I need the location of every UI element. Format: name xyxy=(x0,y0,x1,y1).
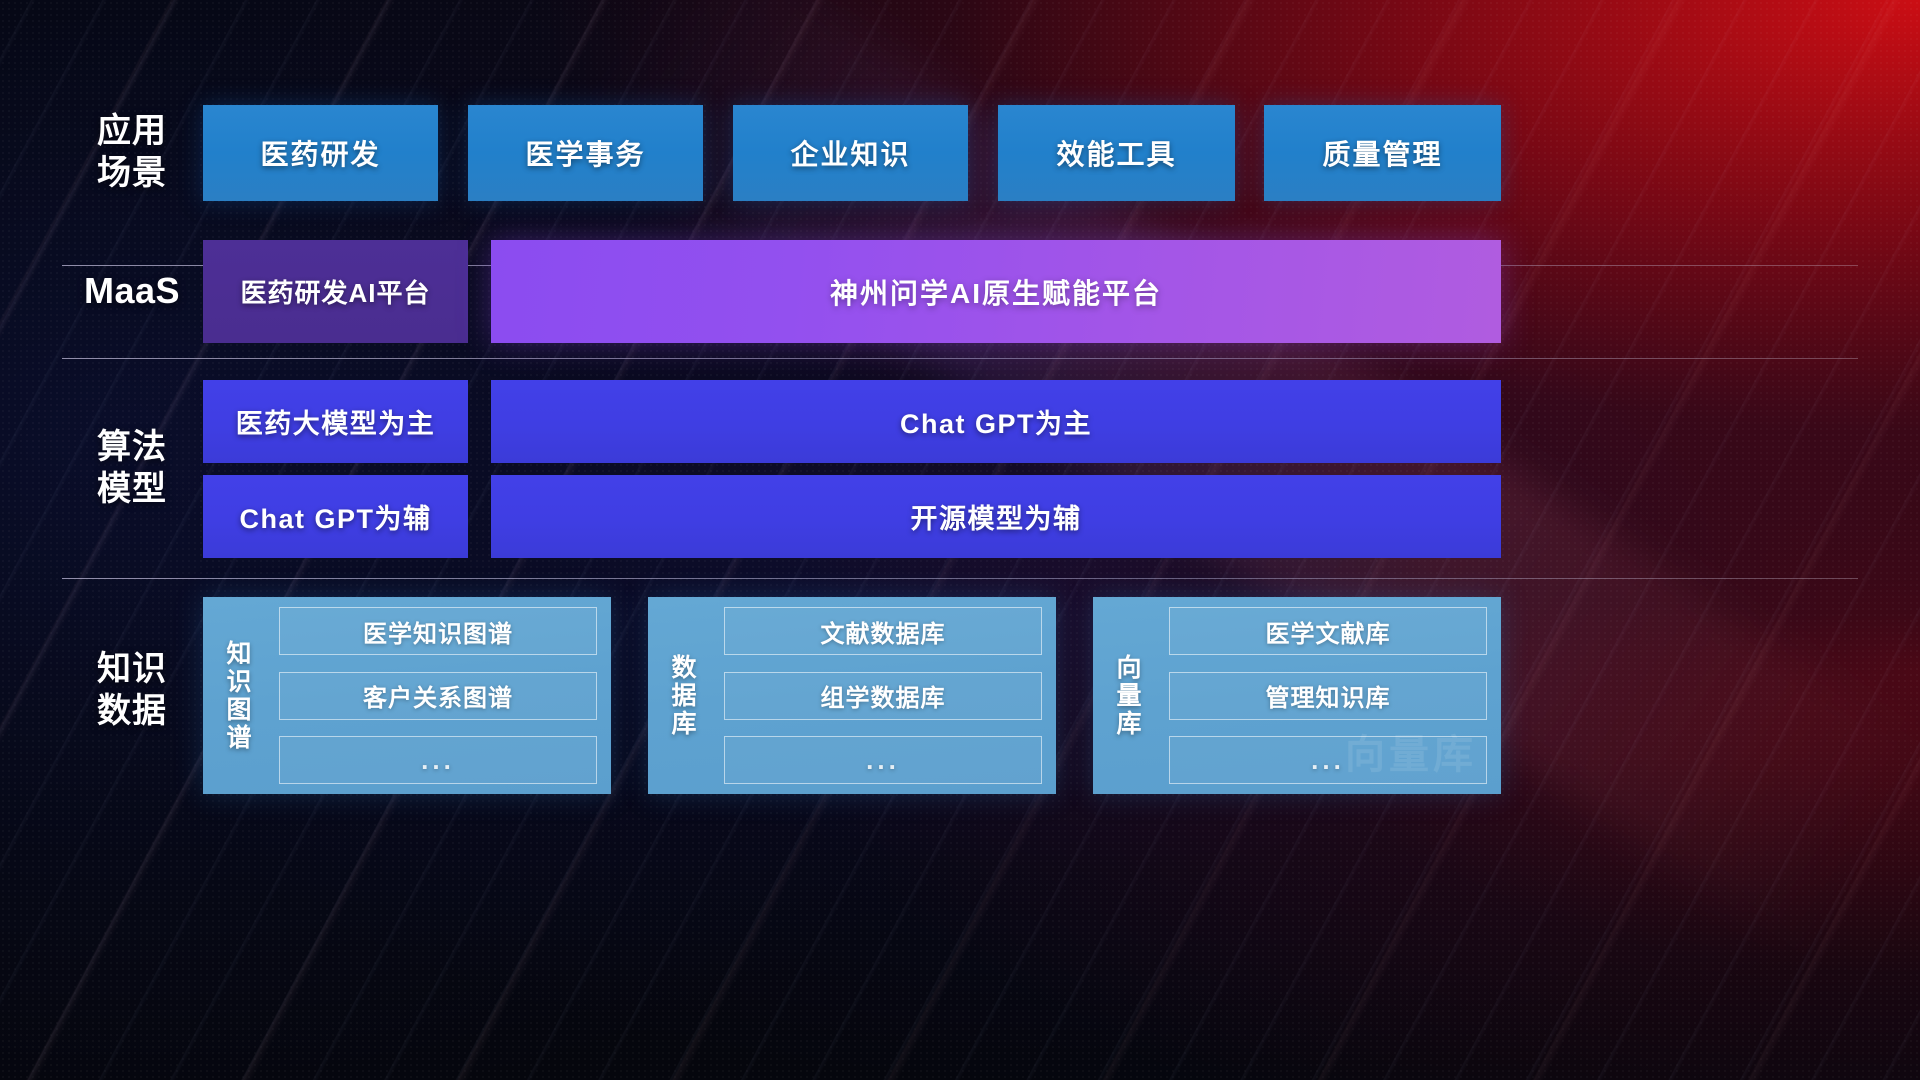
title-char: 知 xyxy=(226,640,251,668)
row-label-line-2: 场景 xyxy=(62,152,202,194)
title-char: 图 xyxy=(226,696,251,724)
title-char: 库 xyxy=(1116,710,1141,738)
knowledge-panel-items: 文献数据库 组学数据库 ... xyxy=(724,607,1042,784)
diagram-stage: 应用 场景 医药研发 医学事务 企业知识 效能工具 质量管理 MaaS 医药研发… xyxy=(0,0,1920,1080)
title-char: 库 xyxy=(671,710,696,738)
row-label-line-1: 知识 xyxy=(62,648,202,690)
divider-row-2 xyxy=(62,358,1858,359)
knowledge-item-medical-knowledge-graph[interactable]: 医学知识图谱 xyxy=(279,607,597,655)
divider-row-3 xyxy=(62,578,1858,579)
knowledge-panel-vector-store[interactable]: 向量库 向 量 库 医学文献库 管理知识库 ... xyxy=(1093,597,1501,794)
title-char: 据 xyxy=(671,682,696,710)
knowledge-item-literature-database[interactable]: 文献数据库 xyxy=(724,607,1042,655)
diagram-content: 应用 场景 医药研发 医学事务 企业知识 效能工具 质量管理 MaaS 医药研发… xyxy=(0,0,1920,1080)
row-label-application-scenarios: 应用 场景 xyxy=(62,110,202,194)
app-box-pharma-rd[interactable]: 医药研发 xyxy=(203,105,438,201)
knowledge-panel-title-vector-store: 向 量 库 xyxy=(1103,607,1155,784)
algorithm-box-chatgpt-primary[interactable]: Chat GPT为主 xyxy=(491,380,1501,463)
row-label-algorithm-model: 算法 模型 xyxy=(62,426,202,510)
row-label-line-2: 数据 xyxy=(62,690,202,732)
title-char: 数 xyxy=(671,654,696,682)
knowledge-item-more[interactable]: ... xyxy=(1169,736,1487,784)
title-char: 识 xyxy=(226,668,251,696)
app-box-quality-management[interactable]: 质量管理 xyxy=(1264,105,1501,201)
row-label-knowledge-data: 知识 数据 xyxy=(62,648,202,732)
maas-box-shenzhou-wenxue-platform[interactable]: 神州问学AI原生赋能平台 xyxy=(491,240,1501,343)
app-box-enterprise-knowledge[interactable]: 企业知识 xyxy=(733,105,968,201)
knowledge-item-omics-database[interactable]: 组学数据库 xyxy=(724,672,1042,720)
knowledge-panel-title-database: 数 据 库 xyxy=(658,607,710,784)
app-box-efficiency-tools[interactable]: 效能工具 xyxy=(998,105,1235,201)
knowledge-item-medical-literature-store[interactable]: 医学文献库 xyxy=(1169,607,1487,655)
knowledge-item-management-knowledge-store[interactable]: 管理知识库 xyxy=(1169,672,1487,720)
algorithm-box-opensource-model-secondary[interactable]: 开源模型为辅 xyxy=(491,475,1501,558)
title-char: 量 xyxy=(1116,682,1141,710)
row-label-line-1: 算法 xyxy=(62,426,202,468)
knowledge-panel-database[interactable]: 数 据 库 文献数据库 组学数据库 ... xyxy=(648,597,1056,794)
knowledge-item-customer-relation-graph[interactable]: 客户关系图谱 xyxy=(279,672,597,720)
row-label-line-2: 模型 xyxy=(62,468,202,510)
knowledge-panel-title-knowledge-graph: 知 识 图 谱 xyxy=(213,607,265,784)
knowledge-item-more[interactable]: ... xyxy=(279,736,597,784)
algorithm-box-pharma-large-model-primary[interactable]: 医药大模型为主 xyxy=(203,380,468,463)
title-char: 谱 xyxy=(226,724,251,752)
knowledge-item-more[interactable]: ... xyxy=(724,736,1042,784)
row-label-line-1: 应用 xyxy=(62,110,202,152)
app-box-medical-affairs[interactable]: 医学事务 xyxy=(468,105,703,201)
algorithm-box-chatgpt-secondary[interactable]: Chat GPT为辅 xyxy=(203,475,468,558)
title-char: 向 xyxy=(1116,654,1141,682)
row-label-maas: MaaS xyxy=(62,270,202,312)
maas-box-pharma-ai-platform[interactable]: 医药研发AI平台 xyxy=(203,240,468,343)
knowledge-panel-knowledge-graph[interactable]: 知 识 图 谱 医学知识图谱 客户关系图谱 ... xyxy=(203,597,611,794)
knowledge-panel-items: 医学文献库 管理知识库 ... xyxy=(1169,607,1487,784)
knowledge-panel-items: 医学知识图谱 客户关系图谱 ... xyxy=(279,607,597,784)
